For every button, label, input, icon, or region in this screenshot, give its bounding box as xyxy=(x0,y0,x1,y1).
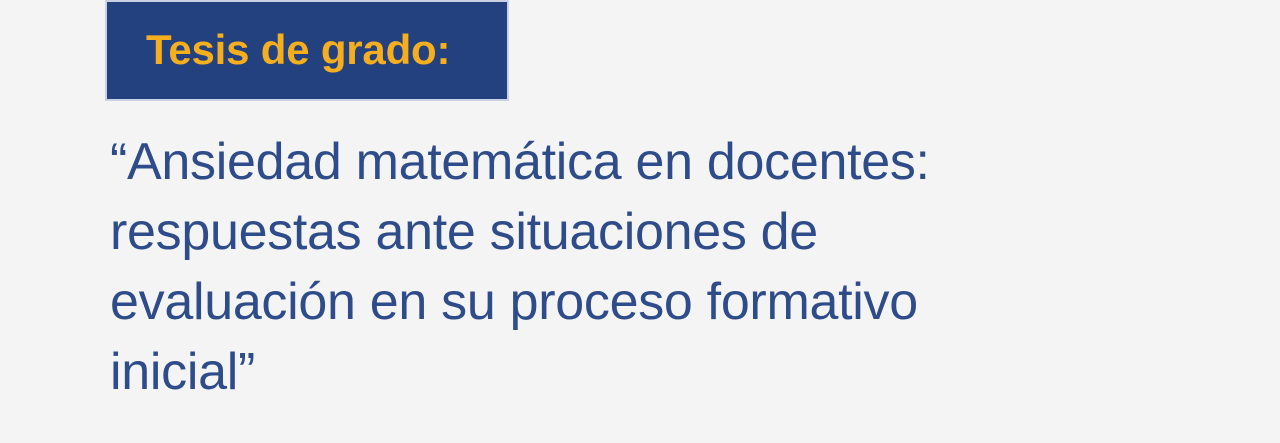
thesis-title-line-3: evaluación en su proceso formativo xyxy=(110,267,1170,337)
slide-root: Tesis de grado: “Ansiedad matemática en … xyxy=(0,0,1280,443)
thesis-title: “Ansiedad matemática en docentes: respue… xyxy=(110,127,1170,407)
thesis-title-line-4: inicial” xyxy=(110,337,1170,407)
thesis-label-badge-container: Tesis de grado: xyxy=(107,2,507,99)
thesis-label-badge: Tesis de grado: xyxy=(107,2,507,99)
thesis-title-line-2: respuestas ante situaciones de xyxy=(110,197,1170,267)
thesis-title-line-1: “Ansiedad matemática en docentes: xyxy=(110,127,1170,197)
